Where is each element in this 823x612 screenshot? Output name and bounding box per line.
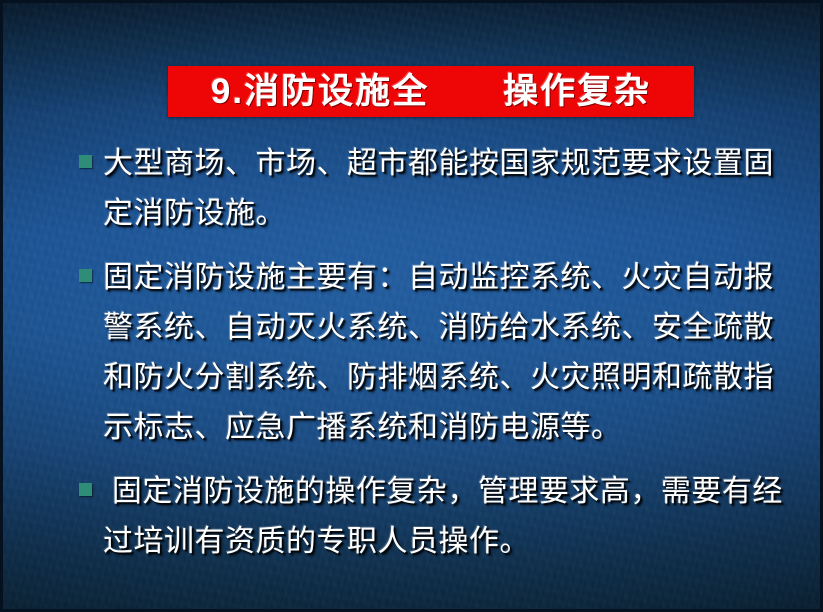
bullet-text: 固定消防设施的操作复杂，管理要求高，需要有经过培训有资质的专职人员操作。 <box>103 475 783 558</box>
slide-body: 大型商场、市场、超市都能按国家规范要求设置固定消防设施。 固定消防设施主要有：自… <box>3 139 823 581</box>
presentation-slide: 9.消防设施全 操作复杂 大型商场、市场、超市都能按国家规范要求设置固定消防设施… <box>0 0 823 612</box>
square-bullet-icon <box>79 269 92 282</box>
bullet-item: 固定消防设施的操作复杂，管理要求高，需要有经过培训有资质的专职人员操作。 <box>3 467 823 567</box>
square-bullet-icon <box>79 155 92 168</box>
bullet-text: 固定消防设施主要有：自动监控系统、火灾自动报警系统、自动灭火系统、消防给水系统、… <box>103 261 774 444</box>
slide-title: 9.消防设施全 操作复杂 <box>211 74 651 109</box>
square-bullet-icon <box>79 483 92 496</box>
bullet-item: 大型商场、市场、超市都能按国家规范要求设置固定消防设施。 <box>3 139 823 239</box>
bullet-text: 大型商场、市场、超市都能按国家规范要求设置固定消防设施。 <box>103 147 774 230</box>
title-banner: 9.消防设施全 操作复杂 <box>168 66 694 117</box>
bullet-item: 固定消防设施主要有：自动监控系统、火灾自动报警系统、自动灭火系统、消防给水系统、… <box>3 253 823 453</box>
